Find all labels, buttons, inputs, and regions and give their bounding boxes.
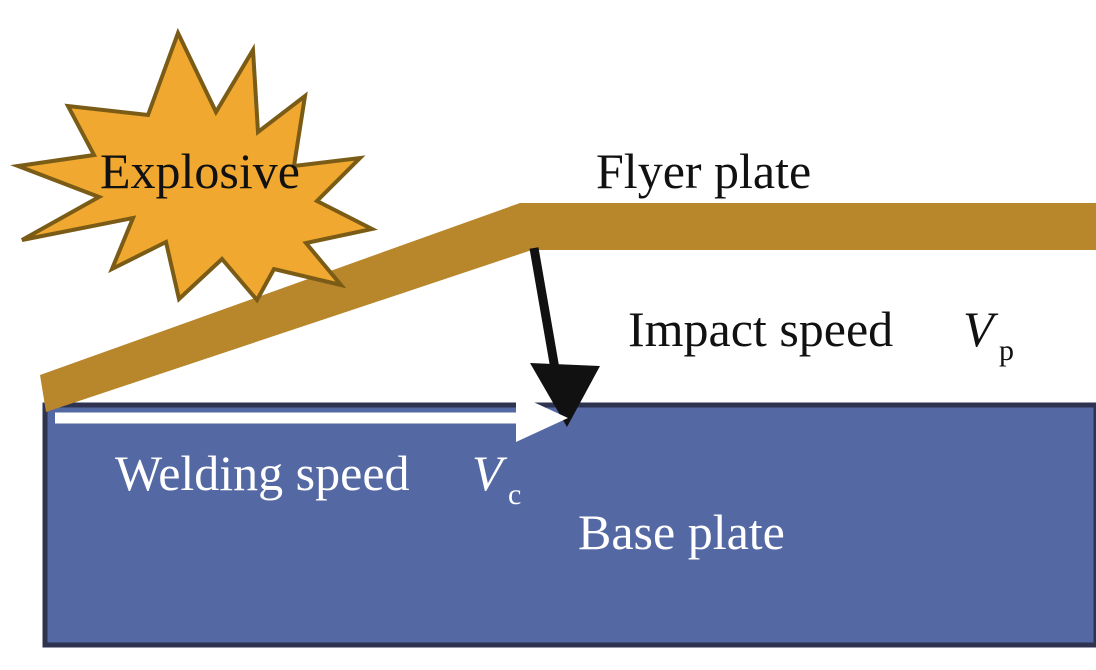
explosive-label: Explosive xyxy=(100,143,300,199)
welding-speed-text: Welding speed xyxy=(115,445,422,501)
base-plate-shape xyxy=(45,405,1096,645)
impact-speed-text: Impact speed xyxy=(628,301,906,357)
welding-speed-subscript: c xyxy=(508,478,521,511)
diagram-canvas: Explosive Flyer plate Impact speed V p W… xyxy=(0,0,1096,670)
impact-speed-subscript: p xyxy=(999,334,1014,367)
flyer-plate-label: Flyer plate xyxy=(596,143,811,199)
base-plate-label: Base plate xyxy=(578,504,785,560)
explosive-welding-diagram: Explosive Flyer plate Impact speed V p W… xyxy=(0,0,1096,670)
